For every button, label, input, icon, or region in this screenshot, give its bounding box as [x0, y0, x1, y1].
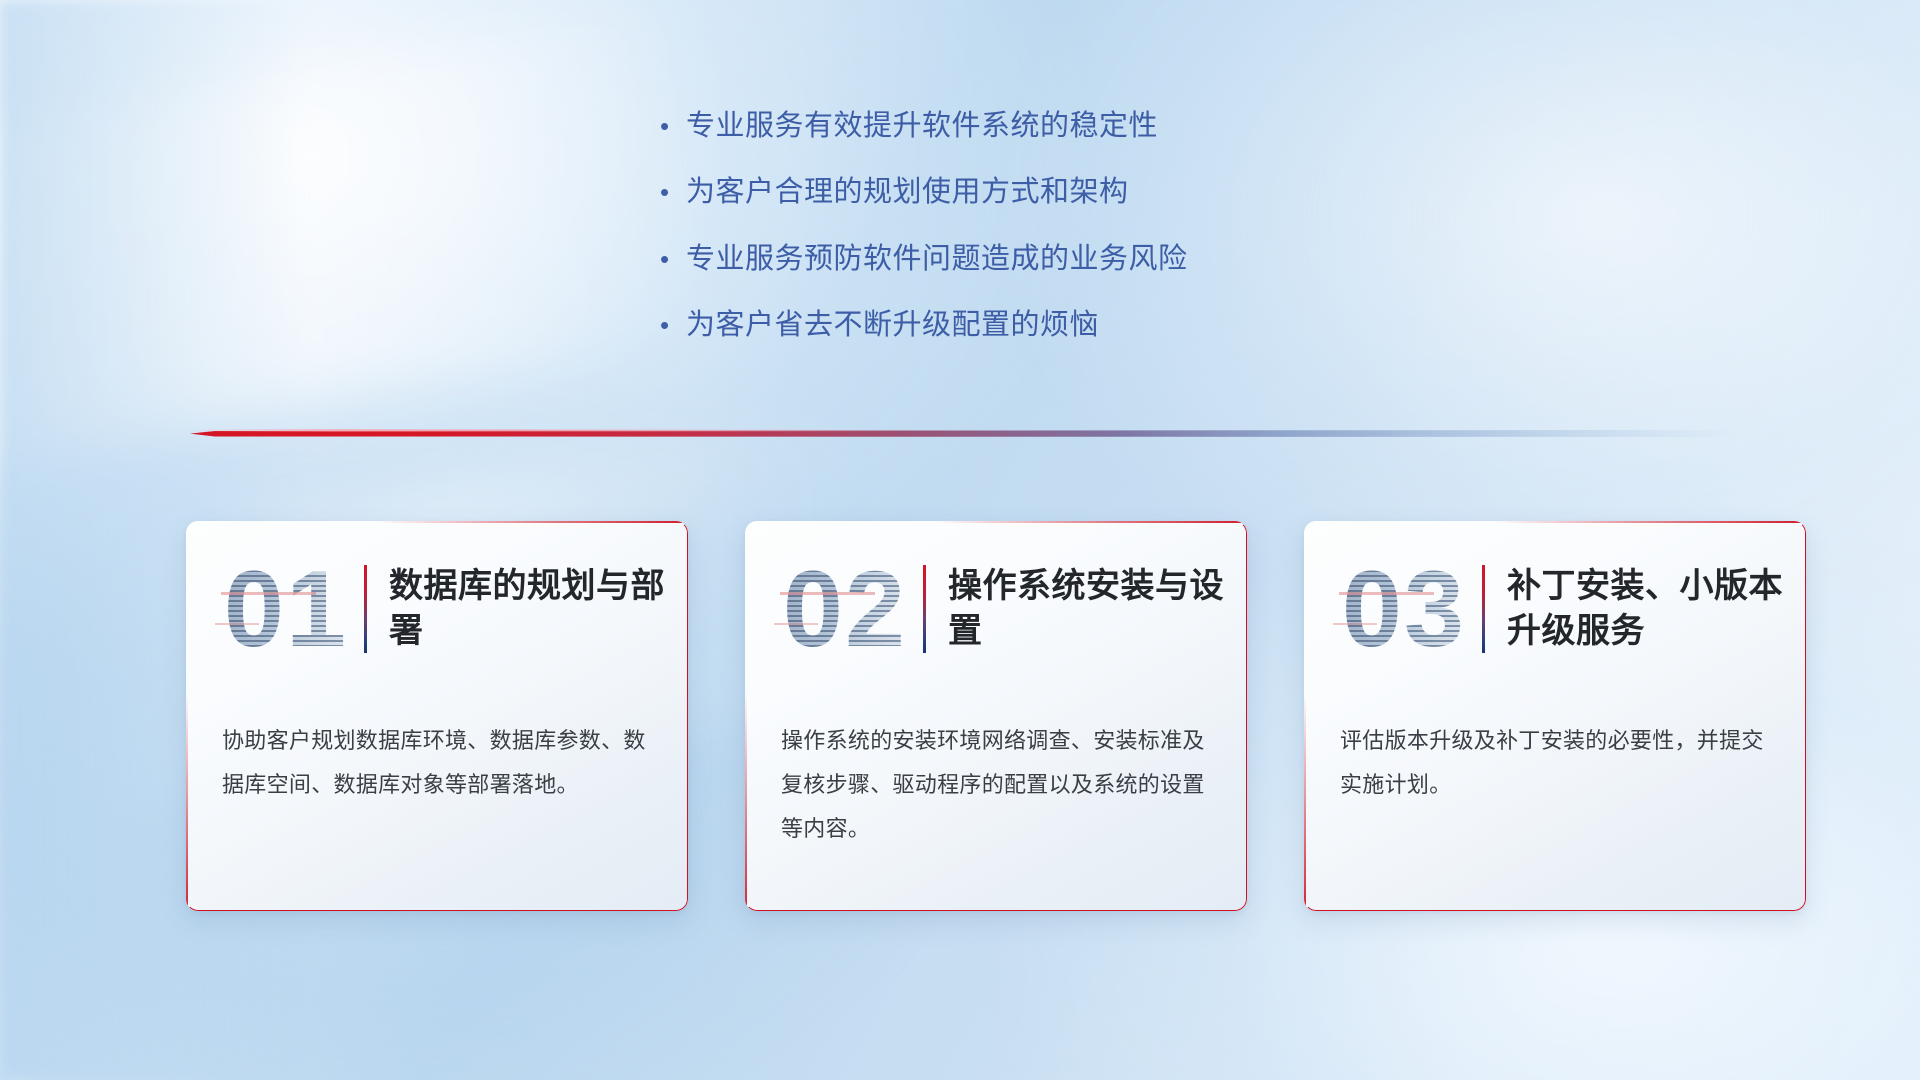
bullet-text: 专业服务预防软件问题造成的业务风险: [686, 241, 1188, 277]
section-divider: [190, 427, 1740, 441]
card-title: 补丁安装、小版本升级服务: [1507, 564, 1806, 654]
bullet-text: 为客户合理的规划使用方式和架构: [686, 174, 1129, 210]
list-item: • 专业服务有效提升软件系统的稳定性: [660, 108, 1420, 144]
list-item: • 专业服务预防软件问题造成的业务风险: [660, 241, 1420, 277]
service-card-03[interactable]: 03 补丁安装、小版本升级服务 评估版本升级及补丁安装的必要性，并提交实施计划。: [1304, 521, 1806, 911]
card-number-watermark: 03: [1330, 550, 1478, 668]
card-number-watermark: 02: [771, 550, 919, 668]
card-title-divider-bar: [923, 565, 926, 653]
card-header: 02 操作系统安装与设置: [745, 521, 1247, 697]
card-body-text: 评估版本升级及补丁安装的必要性，并提交实施计划。: [1304, 697, 1806, 807]
bullet-text: 为客户省去不断升级配置的烦恼: [686, 307, 1099, 343]
card-title-divider-bar: [1482, 565, 1485, 653]
slide-canvas: • 专业服务有效提升软件系统的稳定性 • 为客户合理的规划使用方式和架构 • 专…: [0, 0, 1920, 1080]
service-card-02[interactable]: 02 操作系统安装与设置 操作系统的安装环境网络调查、安装标准及复核步骤、驱动程…: [745, 521, 1247, 911]
service-card-01[interactable]: 01 数据库的规划与部署 协助客户规划数据库环境、数据库参数、数据库空间、数据库…: [186, 521, 688, 911]
list-item: • 为客户合理的规划使用方式和架构: [660, 174, 1420, 210]
list-item: • 为客户省去不断升级配置的烦恼: [660, 307, 1420, 343]
bullet-dot-icon: •: [660, 179, 686, 205]
card-body-text: 操作系统的安装环境网络调查、安装标准及复核步骤、驱动程序的配置以及系统的设置等内…: [745, 697, 1247, 851]
card-header: 01 数据库的规划与部署: [186, 521, 688, 697]
card-body-text: 协助客户规划数据库环境、数据库参数、数据库空间、数据库对象等部署落地。: [186, 697, 688, 807]
bullet-dot-icon: •: [660, 113, 686, 139]
benefits-bullet-list: • 专业服务有效提升软件系统的稳定性 • 为客户合理的规划使用方式和架构 • 专…: [660, 108, 1420, 373]
card-title-divider-bar: [364, 565, 367, 653]
card-title: 操作系统安装与设置: [948, 564, 1247, 654]
divider-highlight: [190, 429, 903, 432]
card-number-watermark: 01: [212, 550, 360, 668]
bullet-dot-icon: •: [660, 246, 686, 272]
card-title: 数据库的规划与部署: [389, 564, 688, 654]
bullet-dot-icon: •: [660, 312, 686, 338]
bullet-text: 专业服务有效提升软件系统的稳定性: [686, 108, 1158, 144]
card-header: 03 补丁安装、小版本升级服务: [1304, 521, 1806, 697]
service-card-list: 01 数据库的规划与部署 协助客户规划数据库环境、数据库参数、数据库空间、数据库…: [186, 521, 1806, 921]
